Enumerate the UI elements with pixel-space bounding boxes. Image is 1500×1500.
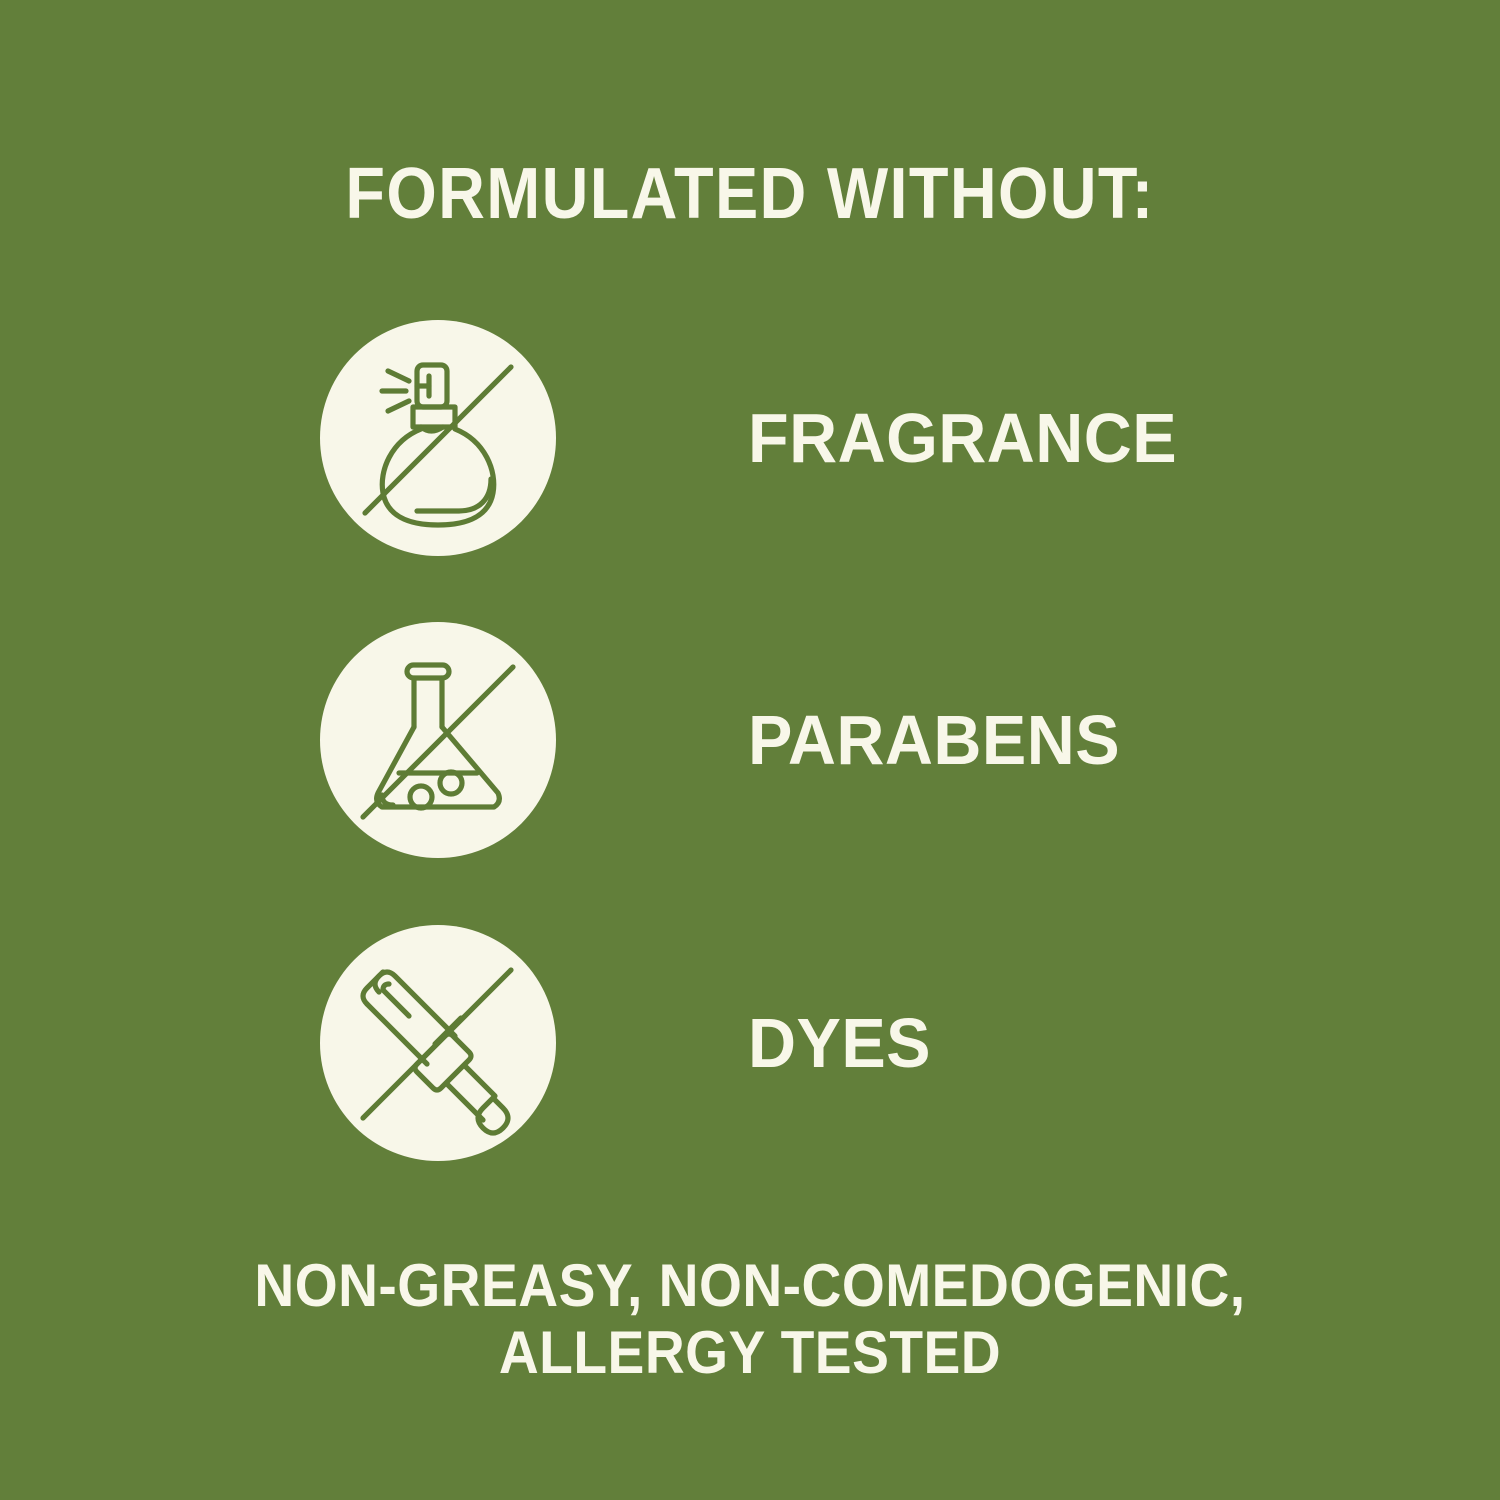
no-fragrance-badge — [320, 320, 556, 556]
claim-label: PARABENS — [748, 705, 1120, 775]
page-title: FORMULATED WITHOUT: — [75, 158, 1425, 230]
claim-row: PARABENS — [320, 622, 1360, 858]
footer-claims: NON-GREASY, NON-COMEDOGENIC, ALLERGY TES… — [0, 1252, 1500, 1386]
no-dyes-badge — [320, 925, 556, 1161]
no-parabens-icon — [343, 645, 533, 835]
claim-row: DYES — [320, 925, 1360, 1161]
formulated-without-panel: FORMULATED WITHOUT: — [0, 0, 1500, 1500]
no-fragrance-icon — [343, 343, 533, 533]
footer-line-1: NON-GREASY, NON-COMEDOGENIC, — [60, 1252, 1440, 1319]
claim-label: FRAGRANCE — [748, 403, 1177, 473]
no-parabens-badge — [320, 622, 556, 858]
claim-row: FRAGRANCE — [320, 320, 1360, 556]
footer-line-2: ALLERGY TESTED — [60, 1319, 1440, 1386]
no-dyes-icon — [343, 948, 533, 1138]
claim-label: DYES — [748, 1008, 931, 1078]
